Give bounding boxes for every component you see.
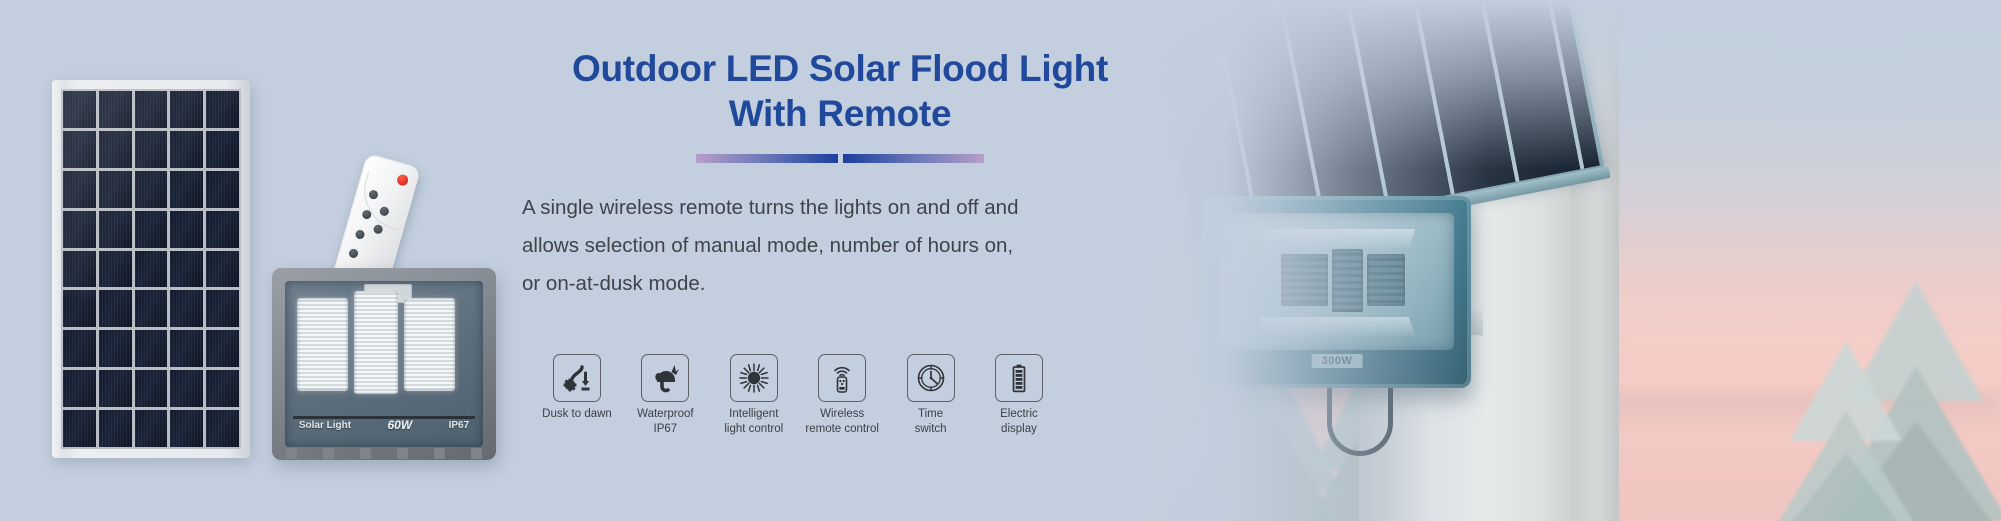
conifer-tree <box>1751 341 1941 521</box>
feature-label: Dusk to dawn <box>538 407 616 422</box>
mounted-flood-light: 300W SOLAR LIGHT <box>1203 196 1471 388</box>
title-line-2: With Remote <box>520 91 1160 136</box>
led-lens <box>297 298 348 391</box>
product-group: Solar Light 60W IP67 <box>0 0 540 521</box>
flood-light-rating-text: IP67 <box>449 420 470 431</box>
lifestyle-photo: 300W SOLAR LIGHT <box>1121 0 2001 521</box>
waterproof-icon <box>641 354 689 402</box>
description-text: A single wireless remote turns the light… <box>520 189 1160 303</box>
description-line-3: or on-at-dusk mode. <box>522 265 1160 303</box>
feature-electric-display: Electric display <box>980 354 1058 436</box>
led-lens <box>354 291 398 394</box>
clock-icon <box>907 354 955 402</box>
copy-block: Outdoor LED Solar Flood Light With Remot… <box>520 46 1160 303</box>
product-banner: 300W SOLAR LIGHT <box>0 0 2001 521</box>
battery-icon <box>995 354 1043 402</box>
flood-light-wattage-text: 60W <box>387 418 412 432</box>
description-line-2: allows selection of manual mode, number … <box>522 227 1160 265</box>
dusk-to-dawn-icon <box>553 354 601 402</box>
feature-label: Intelligent light control <box>715 407 793 436</box>
title-divider <box>696 154 984 163</box>
title-line-1: Outdoor LED Solar Flood Light <box>520 46 1160 91</box>
solar-cell-grid <box>61 89 241 449</box>
mounted-light-brand: SOLAR LIGHT <box>1296 375 1378 385</box>
feature-label: Wireless remote control <box>803 407 881 436</box>
flood-light-product: Solar Light 60W IP67 <box>272 268 496 460</box>
feature-label: Waterproof IP67 <box>626 407 704 436</box>
feature-dusk-to-dawn: Dusk to dawn <box>538 354 616 436</box>
solar-panel-product <box>52 80 250 458</box>
feature-intelligent-light-control: Intelligent light control <box>715 354 793 436</box>
flood-light-brand-text: Solar Light <box>299 420 351 431</box>
description-line-1: A single wireless remote turns the light… <box>522 189 1160 227</box>
sun-light-control-icon <box>730 354 778 402</box>
feature-time-switch: Time switch <box>892 354 970 436</box>
page-title: Outdoor LED Solar Flood Light With Remot… <box>520 46 1160 136</box>
feature-list: Dusk to dawn Waterproof IP67 <box>538 354 1058 436</box>
feature-wireless-remote-control: Wireless remote control <box>803 354 881 436</box>
feature-label: Time switch <box>892 407 970 436</box>
led-lens <box>404 298 455 391</box>
remote-control-icon <box>818 354 866 402</box>
feature-label: Electric display <box>980 407 1058 436</box>
feature-waterproof: Waterproof IP67 <box>626 354 704 436</box>
mounted-light-wattage: 300W <box>1312 354 1363 368</box>
